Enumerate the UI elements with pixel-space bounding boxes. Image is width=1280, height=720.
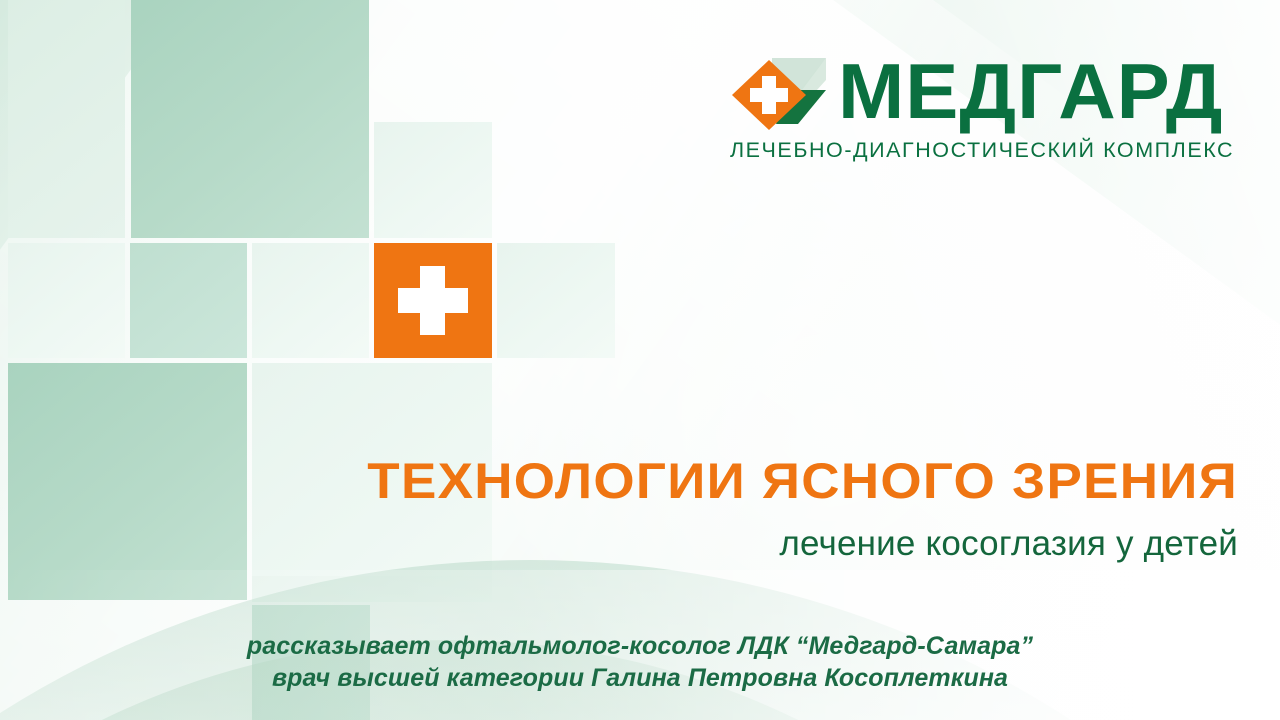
brand-logo: МЕДГАРД ЛЕЧЕБНО-ДИАГНОСТИЧЕСКИЙ КОМПЛЕКС xyxy=(728,52,1238,172)
logo-wordmark: МЕДГАРД xyxy=(838,50,1223,132)
mosaic-tile xyxy=(497,243,615,358)
page-title: ТЕХНОЛОГИИ ЯСНОГО ЗРЕНИЯ xyxy=(0,452,1238,510)
presenter-caption: рассказывает офтальмолог-косолог ЛДК “Ме… xyxy=(0,630,1280,694)
mosaic-tile xyxy=(131,0,369,238)
mosaic-tile xyxy=(130,243,247,358)
medical-cross-diamond-icon xyxy=(728,56,838,140)
page-subtitle: лечение косоглазия у детей xyxy=(0,522,1238,566)
mosaic-tile xyxy=(8,243,125,358)
presenter-caption-line1: рассказывает офтальмолог-косолог ЛДК “Ме… xyxy=(0,630,1280,662)
accent-tile-orange xyxy=(374,243,492,358)
presentation-slide: МЕДГАРД ЛЕЧЕБНО-ДИАГНОСТИЧЕСКИЙ КОМПЛЕКС… xyxy=(0,0,1280,720)
mosaic-tile xyxy=(374,122,492,238)
presenter-caption-line2: врач высшей категории Галина Петровна Ко… xyxy=(0,662,1280,694)
mosaic-tile xyxy=(8,0,125,238)
mosaic-tile xyxy=(252,243,369,358)
logo-tagline: ЛЕЧЕБНО-ДИАГНОСТИЧЕСКИЙ КОМПЛЕКС xyxy=(730,138,1234,162)
